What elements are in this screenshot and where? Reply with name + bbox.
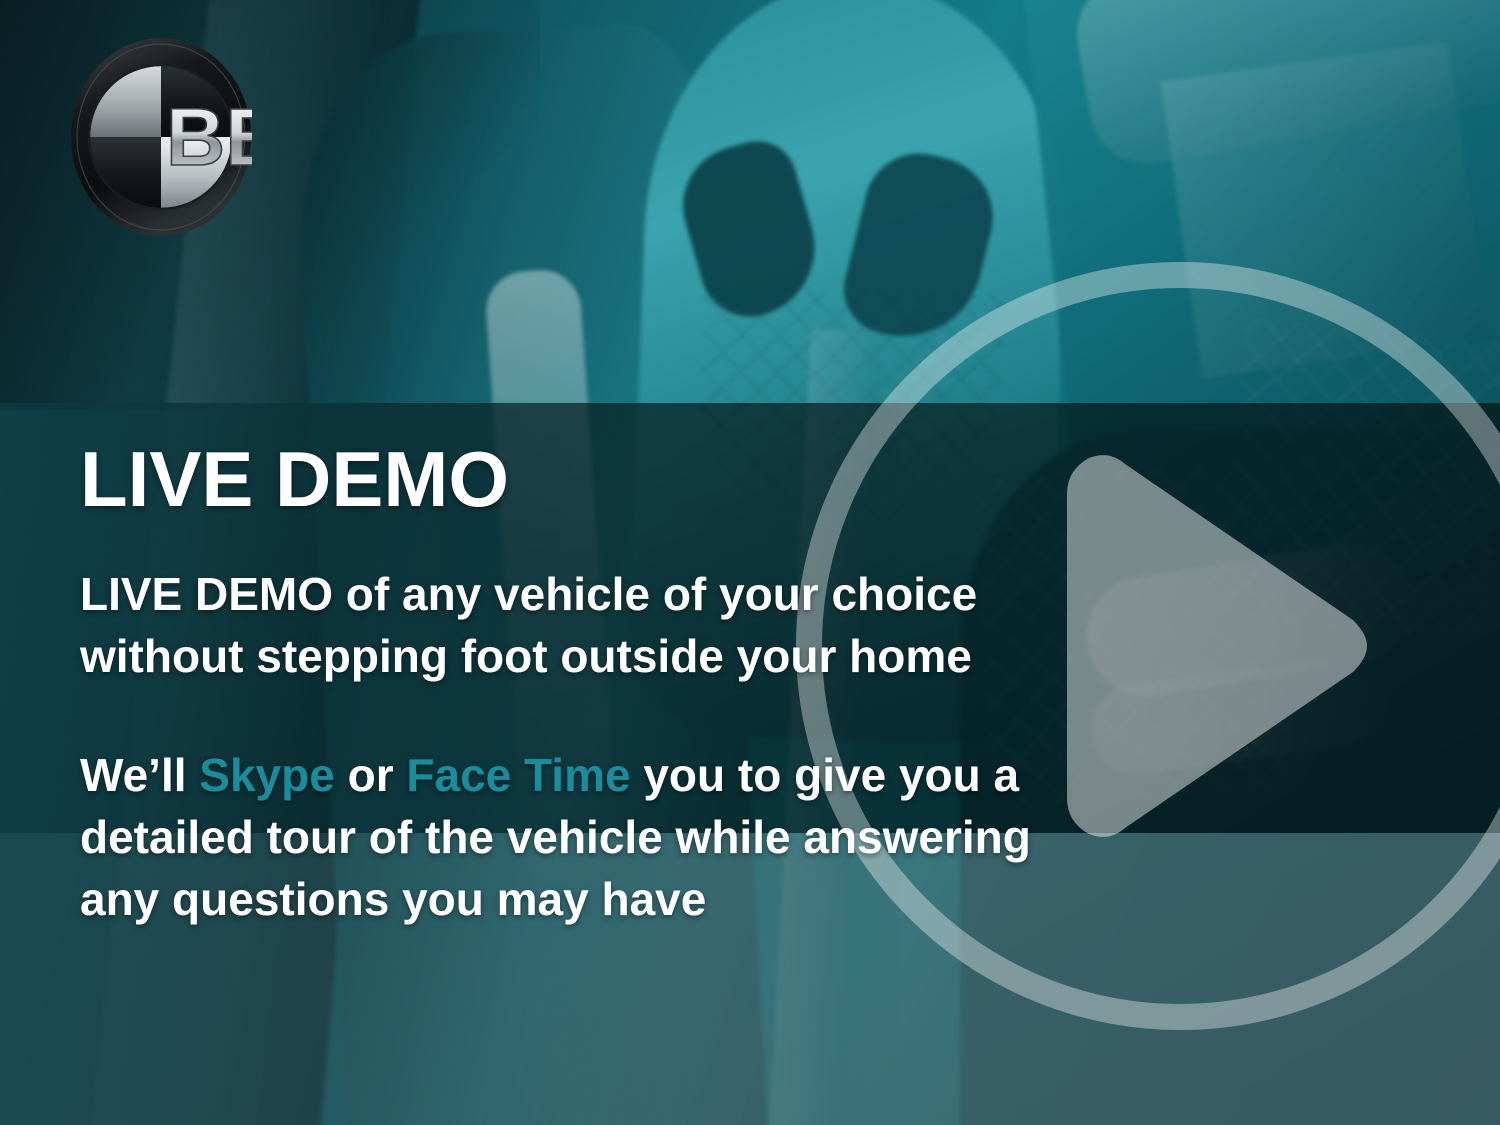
paragraph-intro: LIVE DEMO of any vehicle of your choice … <box>80 564 1140 687</box>
text-pre: We’ll <box>80 749 199 801</box>
page-title: LIVE DEMO <box>80 440 1140 518</box>
text-mid: or <box>335 749 407 801</box>
be-roundel-logo: BE <box>70 37 252 237</box>
paragraph-intro-line-1: LIVE DEMO of any vehicle of your choice <box>80 564 1140 626</box>
copy-block: LIVE DEMO LIVE DEMO of any vehicle of yo… <box>80 440 1140 930</box>
text-post: you to give you a <box>631 749 1020 801</box>
paragraph-intro-line-2: without stepping foot outside your home <box>80 626 1140 688</box>
paragraph-contact-line-3: any questions you may have <box>80 869 1140 931</box>
paragraph-contact: We’ll Skype or Face Time you to give you… <box>80 745 1140 930</box>
paragraph-contact-line-2: detailed tour of the vehicle while answe… <box>80 807 1140 869</box>
slide-canvas: BE LIVE DEMO LIVE DEMO of any vehicle of… <box>0 0 1500 1125</box>
paragraph-contact-line-1: We’ll Skype or Face Time you to give you… <box>80 745 1140 807</box>
logo-letters: BE <box>166 92 252 183</box>
highlight-skype: Skype <box>199 749 335 801</box>
highlight-facetime: Face Time <box>406 749 630 801</box>
